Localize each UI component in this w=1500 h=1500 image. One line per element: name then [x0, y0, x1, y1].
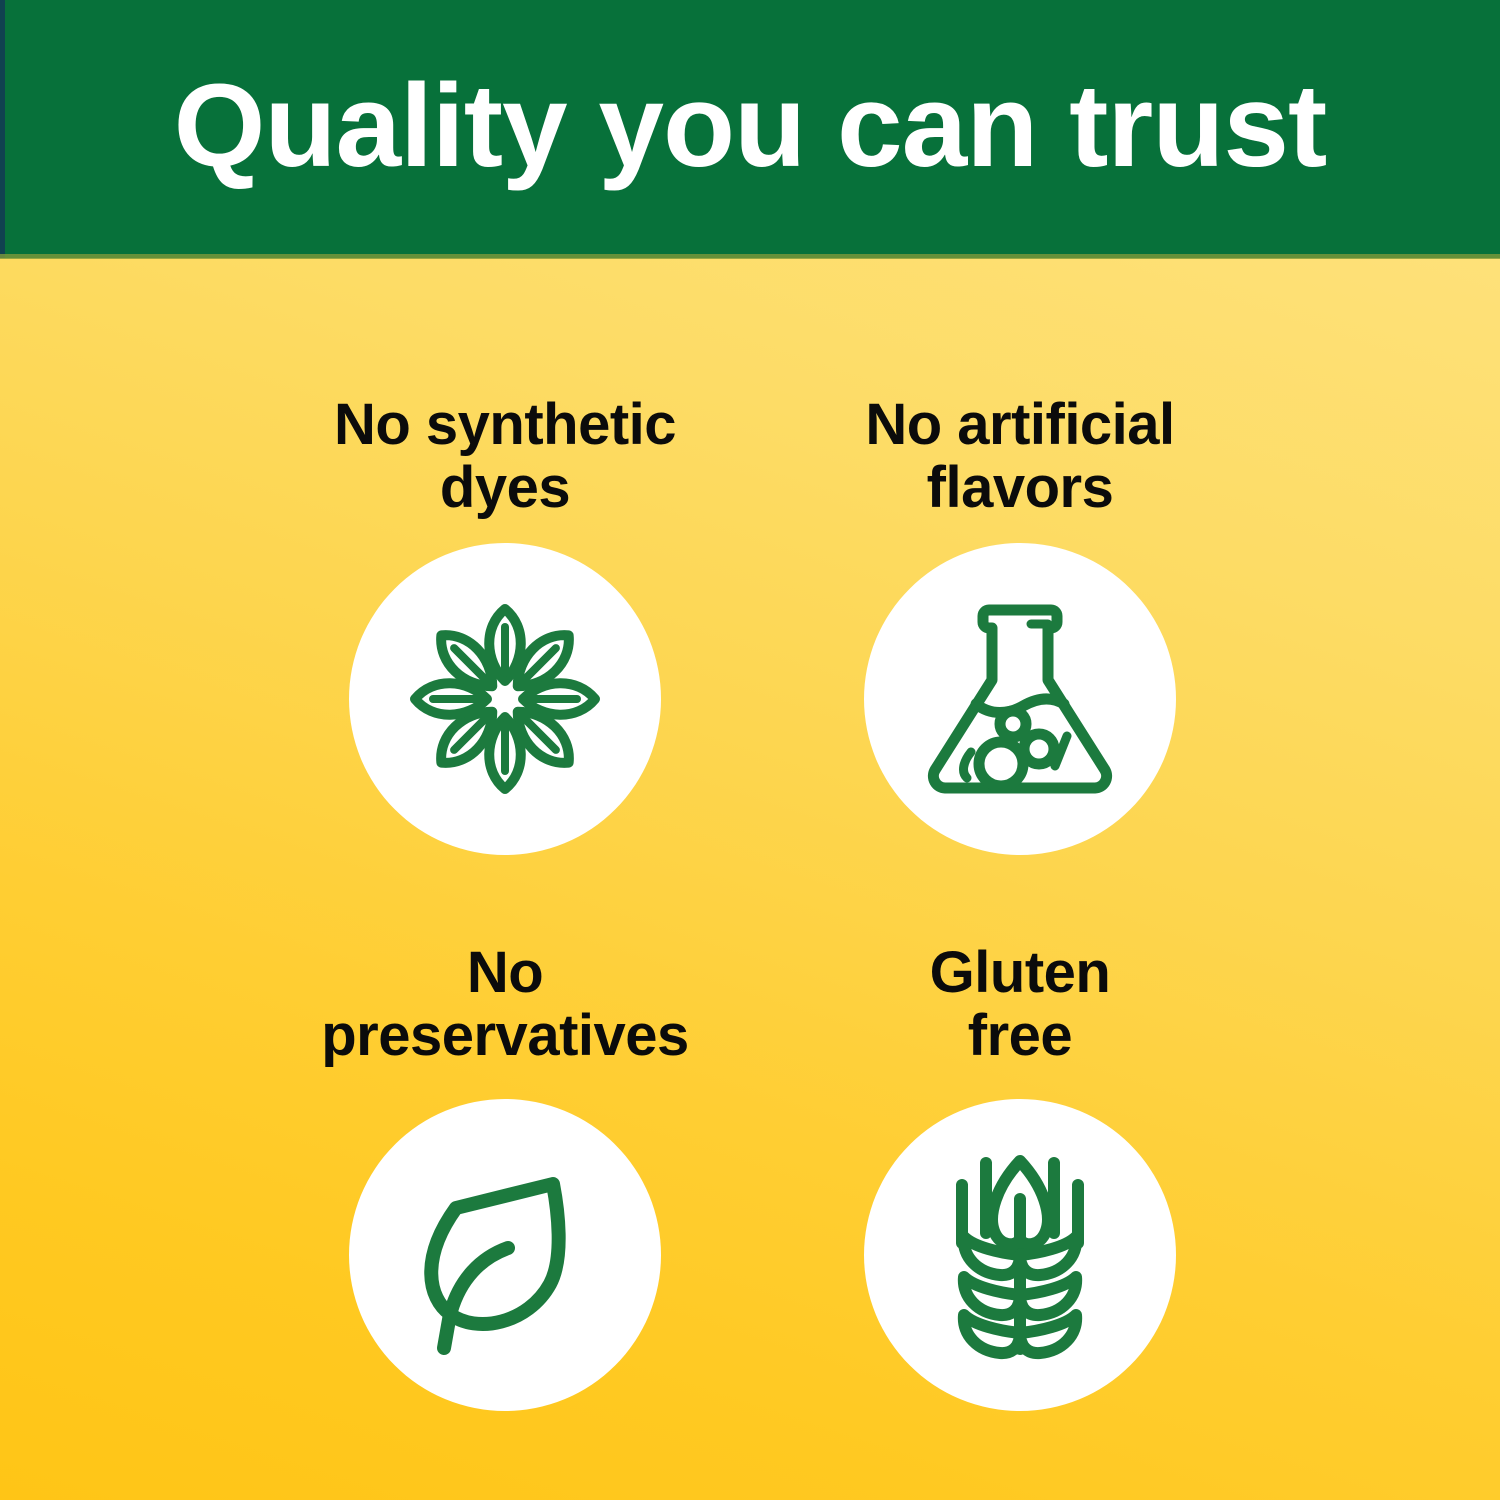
- feature-label-gluten-free: Gluten free: [930, 938, 1111, 1067]
- wheat-icon: [908, 1143, 1133, 1368]
- leaf-icon: [398, 1148, 613, 1363]
- feature-grid: No synthetic dyes: [245, 370, 1275, 1460]
- flower-icon: [385, 579, 625, 819]
- icon-disc-no-preservatives: [349, 1099, 661, 1411]
- icon-disc-no-synthetic-dyes: [349, 543, 661, 855]
- quality-badge-graphic: Quality you can trust No synthetic dyes: [0, 0, 1500, 1500]
- icon-disc-gluten-free: [864, 1099, 1176, 1411]
- page-title: Quality you can trust: [0, 0, 1500, 258]
- feature-label-no-artificial-flavors: No artificial flavors: [865, 370, 1174, 519]
- feature-item-no-synthetic-dyes: No synthetic dyes: [245, 370, 765, 938]
- icon-disc-no-artificial-flavors: [864, 543, 1176, 855]
- feature-item-no-preservatives: No preservatives: [245, 938, 765, 1460]
- feature-item-no-artificial-flavors: No artificial flavors: [765, 370, 1275, 938]
- feature-label-no-preservatives: No preservatives: [321, 938, 689, 1067]
- feature-item-gluten-free: Gluten free: [765, 938, 1275, 1460]
- flask-icon: [905, 584, 1135, 814]
- feature-label-no-synthetic-dyes: No synthetic dyes: [334, 370, 676, 519]
